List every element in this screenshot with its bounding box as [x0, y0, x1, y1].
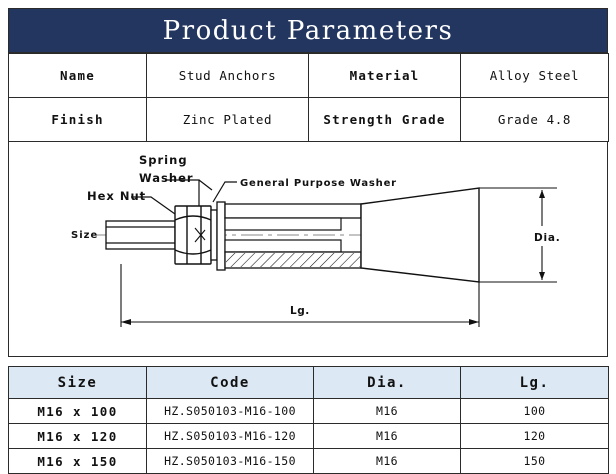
product-parameters-page: Product Parameters Name Stud Anchors Mat… [0, 0, 616, 465]
stud-anchor-diagram: Spring Washer Hex Nut General Purpose Wa… [9, 142, 607, 355]
table-row: M16 x 120 HZ.S050103-M16-120 M16 120 [9, 424, 609, 449]
cell-code: HZ.S050103-M16-100 [147, 399, 314, 424]
specification-table: Name Stud Anchors Material Alloy Steel F… [8, 53, 609, 142]
label-size: Size [71, 230, 98, 241]
threaded-stud [106, 221, 175, 249]
cell-dia: M16 [314, 449, 461, 474]
label-dia: Dia. [534, 232, 561, 244]
table-row: M16 x 100 HZ.S050103-M16-100 M16 100 [9, 399, 609, 424]
label-spring-washer-line2: Washer [139, 171, 194, 185]
cell-code: HZ.S050103-M16-120 [147, 424, 314, 449]
spec-label-material: Material [309, 54, 461, 98]
table-header-row: Size Code Dia. Lg. [9, 367, 609, 399]
cell-lg: 150 [461, 449, 609, 474]
general-purpose-washer-body [217, 202, 225, 270]
column-header-dia: Dia. [314, 367, 461, 399]
page-title-banner: Product Parameters [8, 8, 608, 53]
spec-label-strength-grade: Strength Grade [309, 98, 461, 142]
spec-value-name: Stud Anchors [147, 54, 309, 98]
label-lg: Lg. [290, 305, 310, 317]
cell-dia: M16 [314, 424, 461, 449]
spring-washer-body [211, 210, 217, 260]
spec-value-finish: Zinc Plated [147, 98, 309, 142]
hex-nut-body [175, 206, 211, 264]
spec-value-strength-grade: Grade 4.8 [461, 98, 609, 142]
cell-code: HZ.S050103-M16-150 [147, 449, 314, 474]
cone-wedge-end [361, 188, 479, 282]
spec-label-name: Name [9, 54, 147, 98]
cell-size: M16 x 120 [9, 424, 147, 449]
cell-lg: 100 [461, 399, 609, 424]
cell-size: M16 x 150 [9, 449, 147, 474]
table-row: Finish Zinc Plated Strength Grade Grade … [9, 98, 609, 142]
column-header-size: Size [9, 367, 147, 399]
size-code-table: Size Code Dia. Lg. M16 x 100 HZ.S050103-… [8, 366, 609, 474]
product-technical-drawing: Spring Washer Hex Nut General Purpose Wa… [8, 142, 608, 357]
table-row: M16 x 150 HZ.S050103-M16-150 M16 150 [9, 449, 609, 474]
sleeve-section-hatching [226, 253, 360, 267]
label-hex-nut: Hex Nut [87, 189, 146, 203]
column-header-code: Code [147, 367, 314, 399]
page-title: Product Parameters [163, 16, 454, 46]
label-general-purpose-washer: General Purpose Washer [240, 178, 397, 189]
spec-label-finish: Finish [9, 98, 147, 142]
cell-size: M16 x 100 [9, 399, 147, 424]
table-row: Name Stud Anchors Material Alloy Steel [9, 54, 609, 98]
cell-lg: 120 [461, 424, 609, 449]
column-header-lg: Lg. [461, 367, 609, 399]
label-spring-washer-line1: Spring [139, 153, 188, 167]
spec-value-material: Alloy Steel [461, 54, 609, 98]
cell-dia: M16 [314, 399, 461, 424]
